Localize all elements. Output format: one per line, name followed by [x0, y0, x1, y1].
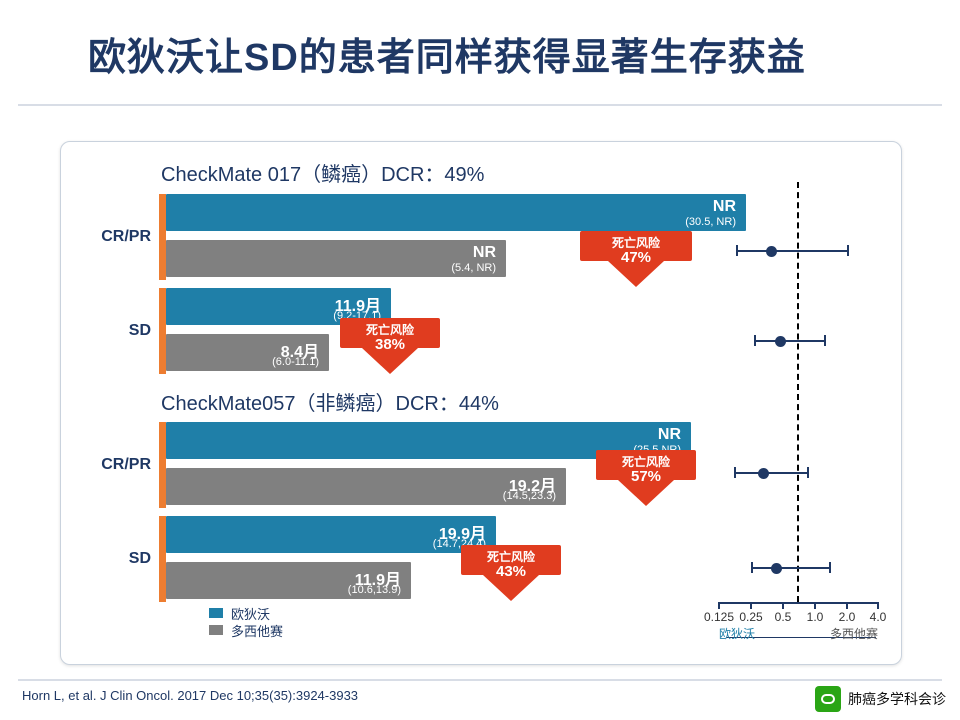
wechat-icon — [815, 686, 841, 712]
title-divider — [18, 104, 942, 106]
forest-ci-cap-left-057-sd — [751, 562, 753, 573]
watermark-text: 肺癌多学科会诊 — [848, 689, 946, 709]
category-label-017-sd: SD — [81, 322, 151, 340]
forest-plot: 0.125 0.25 0.5 1.0 2.0 4.0 欧狄沃 多西他赛 — [706, 182, 886, 642]
forest-tick-5 — [877, 602, 879, 609]
bar-017-sd-docetaxel: 8.4月 (6.0-11.1) — [166, 334, 329, 371]
forest-label-favors-docetaxel: 多西他赛 — [830, 625, 878, 642]
hr-callout-value: 38% — [340, 336, 440, 353]
forest-tick-1 — [750, 602, 752, 609]
legend-label-docetaxel: 多西他赛 — [231, 621, 283, 640]
title-bar: 欧狄沃让SD的患者同样获得显著生存获益 — [0, 0, 960, 104]
category-label-057-sd: SD — [81, 550, 151, 568]
bar-value-057-crpr-nivolumab: NR — [658, 426, 681, 444]
panel-heading-checkmate017: CheckMate 017（鳞癌）DCR：49% — [161, 158, 484, 187]
bar-ci-057-crpr-docetaxel: (14.5,23.3) — [503, 490, 556, 502]
bar-ci-057-sd-docetaxel: (10.6,13.9) — [348, 584, 401, 596]
category-label-017-crpr: CR/PR — [81, 228, 151, 246]
forest-label-favors-nivolumab: 欧狄沃 — [719, 625, 755, 642]
watermark: 肺癌多学科会诊 — [815, 686, 946, 712]
bar-057-crpr-docetaxel: 19.2月 (14.5,23.3) — [166, 468, 566, 505]
forest-null-line — [797, 182, 799, 602]
forest-ci-cap-right-057-crpr — [807, 467, 809, 478]
group-tick-057-crpr — [159, 422, 166, 508]
bar-ci-017-sd-docetaxel: (6.0-11.1) — [272, 356, 319, 368]
legend-swatch-docetaxel — [209, 625, 223, 635]
group-tick-057-sd — [159, 516, 166, 602]
forest-tick-3 — [814, 602, 816, 609]
forest-ci-cap-right-017-sd — [824, 335, 826, 346]
forest-point-057-crpr — [758, 468, 769, 479]
hr-callout-value: 57% — [596, 468, 696, 485]
legend-swatch-nivolumab — [209, 608, 223, 618]
forest-axis-line — [718, 602, 878, 604]
bar-017-crpr-docetaxel: NR (5.4, NR) — [166, 240, 506, 277]
panel-heading-checkmate057: CheckMate057（非鳞癌）DCR：44% — [161, 387, 499, 416]
forest-ci-017-crpr — [736, 250, 849, 252]
group-tick-017-sd — [159, 288, 166, 374]
forest-tick-0 — [718, 602, 720, 609]
citation: Horn L, et al. J Clin Oncol. 2017 Dec 10… — [22, 688, 358, 703]
forest-ci-cap-right-057-sd — [829, 562, 831, 573]
bar-057-sd-nivolumab: 19.9月 (14.7,24.4) — [166, 516, 496, 553]
forest-point-017-sd — [775, 336, 786, 347]
forest-ci-cap-left-017-sd — [754, 335, 756, 346]
forest-point-057-sd — [771, 563, 782, 574]
forest-ci-017-sd — [754, 340, 826, 342]
forest-ci-057-sd — [751, 567, 831, 569]
bar-057-sd-docetaxel: 11.9月 (10.6,13.9) — [166, 562, 411, 599]
forest-tick-4 — [846, 602, 848, 609]
category-label-057-crpr: CR/PR — [81, 456, 151, 474]
forest-ci-057-crpr — [734, 472, 809, 474]
forest-ci-cap-left-057-crpr — [734, 467, 736, 478]
forest-ci-cap-left-017-crpr — [736, 245, 738, 256]
forest-ci-cap-right-017-crpr — [847, 245, 849, 256]
footer-divider — [18, 679, 942, 681]
group-tick-017-crpr — [159, 194, 166, 280]
bar-ci-017-crpr-docetaxel: (5.4, NR) — [451, 262, 496, 274]
chart-card: CheckMate 017（鳞癌）DCR：49% CR/PR NR (30.5,… — [60, 141, 902, 665]
bar-017-crpr-nivolumab: NR (30.5, NR) — [166, 194, 746, 231]
forest-tick-2 — [782, 602, 784, 609]
forest-point-017-crpr — [766, 246, 777, 257]
bar-value-017-crpr-docetaxel: NR — [473, 244, 496, 262]
hr-callout-value: 43% — [461, 563, 561, 580]
hr-callout-value: 47% — [580, 249, 692, 266]
forest-ticklabel-5: 4.0 — [858, 610, 898, 624]
page-title: 欧狄沃让SD的患者同样获得显著生存获益 — [88, 26, 806, 81]
